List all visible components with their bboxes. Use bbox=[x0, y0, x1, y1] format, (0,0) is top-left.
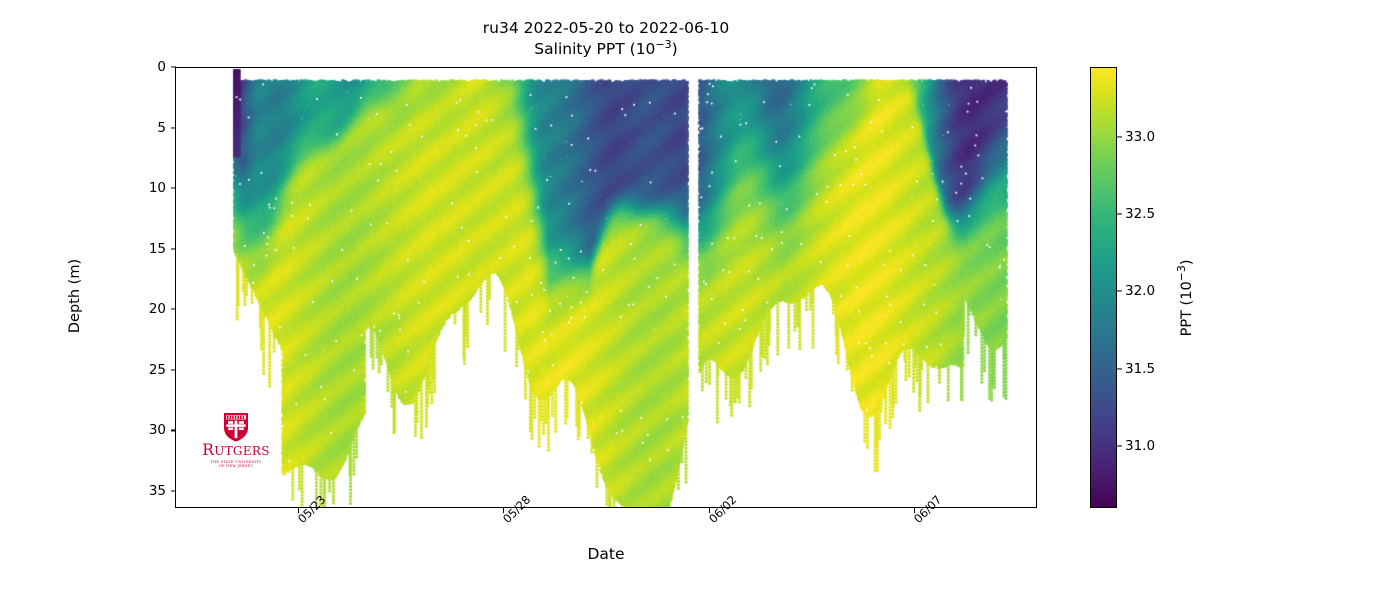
title-line-dates: ru34 2022-05-20 to 2022-06-10 bbox=[175, 18, 1037, 38]
colorbar-label-prefix: PPT (10 bbox=[1179, 281, 1195, 336]
y-tick-label: 25 bbox=[0, 362, 166, 378]
y-tick-label: 15 bbox=[0, 241, 166, 257]
y-tick-mark bbox=[171, 127, 176, 128]
rutgers-wordmark: RUTGERS bbox=[196, 443, 276, 459]
colorbar-tick-label: 33.0 bbox=[1125, 129, 1155, 145]
title-line-variable: Salinity PPT (10−3) bbox=[175, 38, 1037, 60]
colorbar-tick-mark bbox=[1117, 446, 1122, 447]
salinity-depth-figure: ru34 2022-05-20 to 2022-06-10 Salinity P… bbox=[0, 0, 1400, 600]
colorbar-tick-mark bbox=[1117, 291, 1122, 292]
y-tick-mark bbox=[171, 188, 176, 189]
tagline-line-1: THE STATE UNIVERSITY bbox=[210, 460, 261, 464]
y-tick-mark bbox=[171, 369, 176, 370]
colorbar-tick-label: 32.0 bbox=[1125, 283, 1155, 299]
colorbar-tick-label: 31.0 bbox=[1125, 438, 1155, 454]
title-variable-suffix: ) bbox=[672, 41, 678, 59]
title-variable-exponent: −3 bbox=[655, 38, 671, 51]
colorbar-tick-mark bbox=[1117, 136, 1122, 137]
colorbar-tick-label: 31.5 bbox=[1125, 361, 1155, 377]
rutgers-tagline: THE STATE UNIVERSITY OF NEW JERSEY bbox=[196, 460, 276, 470]
y-tick-label: 20 bbox=[0, 301, 166, 317]
y-tick-label: 30 bbox=[0, 422, 166, 438]
colorbar bbox=[1090, 67, 1117, 508]
wordmark-rest: UTGERS bbox=[214, 444, 270, 458]
y-tick-mark bbox=[171, 66, 176, 67]
wordmark-initial: R bbox=[202, 441, 214, 459]
plot-axes bbox=[175, 67, 1037, 508]
colorbar-tick-mark bbox=[1117, 368, 1122, 369]
tagline-line-2: OF NEW JERSEY bbox=[219, 464, 253, 468]
rutgers-logo: RUTGERS THE STATE UNIVERSITY OF NEW JERS… bbox=[196, 412, 276, 490]
y-tick-mark bbox=[171, 430, 176, 431]
y-tick-mark bbox=[171, 248, 176, 249]
colorbar-label: PPT (10−3) bbox=[1175, 218, 1195, 378]
rutgers-shield-icon bbox=[223, 412, 249, 442]
y-tick-label: 5 bbox=[0, 120, 166, 136]
colorbar-tick-label: 32.5 bbox=[1125, 206, 1155, 222]
y-tick-mark bbox=[171, 309, 176, 310]
colorbar-tick-mark bbox=[1117, 213, 1122, 214]
colorbar-label-suffix: ) bbox=[1179, 259, 1195, 265]
title-variable-prefix: Salinity PPT (10 bbox=[534, 41, 655, 59]
y-tick-label: 0 bbox=[0, 59, 166, 75]
figure-title: ru34 2022-05-20 to 2022-06-10 Salinity P… bbox=[175, 18, 1037, 60]
y-tick-label: 35 bbox=[0, 483, 166, 499]
y-tick-label: 10 bbox=[0, 180, 166, 196]
x-axis-label: Date bbox=[175, 545, 1037, 563]
y-tick-mark bbox=[171, 490, 176, 491]
y-axis-label: Depth (m) bbox=[67, 216, 83, 376]
salinity-scatter-canvas bbox=[176, 68, 1036, 507]
colorbar-label-exponent: −3 bbox=[1175, 265, 1188, 281]
